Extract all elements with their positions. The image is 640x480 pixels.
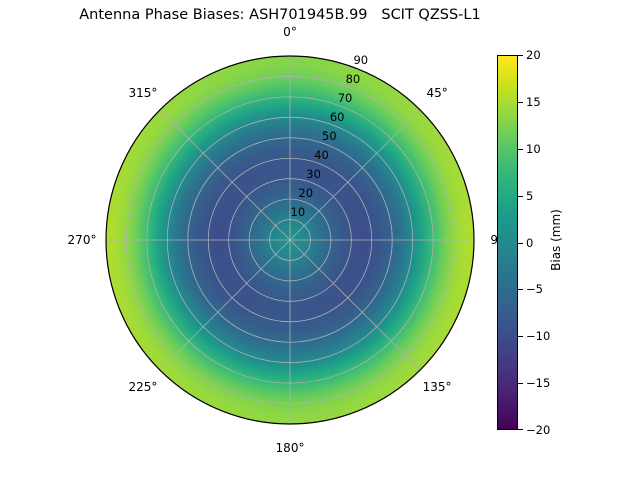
azimuth-tick-180: 180° [276,441,305,455]
radial-tick-80: 80 [346,72,361,86]
colorbar-ticklabel-0: 0 [526,236,533,250]
radial-tick-20: 20 [298,186,313,200]
colorbar-ticklabel--5: −5 [526,282,543,296]
azimuth-tick-225: 225° [128,380,157,394]
colorbar-tickmark-15 [518,102,523,103]
colorbar-ticklabel--15: −15 [526,376,550,390]
matplotlib-figure: Antenna Phase Biases: ASH701945B.99 SCIT… [0,0,640,480]
radial-tick-10: 10 [291,205,306,219]
colorbar-ticklabel-20: 20 [526,48,541,62]
colorbar-tickmark--20 [518,429,523,430]
azimuth-tick-315: 315° [128,86,157,100]
colorbar-ticklabel--10: −10 [526,329,550,343]
colorbar-tickmark--5 [518,289,523,290]
radial-tick-40: 40 [314,148,329,162]
colorbar-ticklabel--20: −20 [526,423,550,437]
radial-tick-50: 50 [322,129,337,143]
colorbar-tickmark--10 [518,336,523,337]
radial-tick-30: 30 [306,167,321,181]
polar-heatmap-plot [105,55,475,425]
azimuth-tick-0: 0° [283,25,297,39]
colorbar-gradient [497,55,518,430]
colorbar-ticklabel-15: 15 [526,95,541,109]
colorbar-ticklabel-10: 10 [526,142,541,156]
azimuth-tick-270: 270° [68,233,97,247]
page-title: Antenna Phase Biases: ASH701945B.99 SCIT… [0,7,560,23]
colorbar-tickmark-5 [518,196,523,197]
colorbar-axis-label: Bias (mm) [549,209,563,271]
radial-tick-70: 70 [338,91,353,105]
radial-tick-60: 60 [330,110,345,124]
colorbar-tickmark-0 [518,243,523,244]
colorbar: −20−15−10−505101520 [497,55,518,430]
radial-tick-90: 90 [353,53,368,67]
colorbar-tickmark--15 [518,383,523,384]
azimuth-tick-135: 135° [423,380,452,394]
colorbar-tickmark-20 [518,55,523,56]
colorbar-ticklabel-5: 5 [526,189,533,203]
colorbar-tickmark-10 [518,149,523,150]
azimuth-tick-45: 45° [426,86,447,100]
